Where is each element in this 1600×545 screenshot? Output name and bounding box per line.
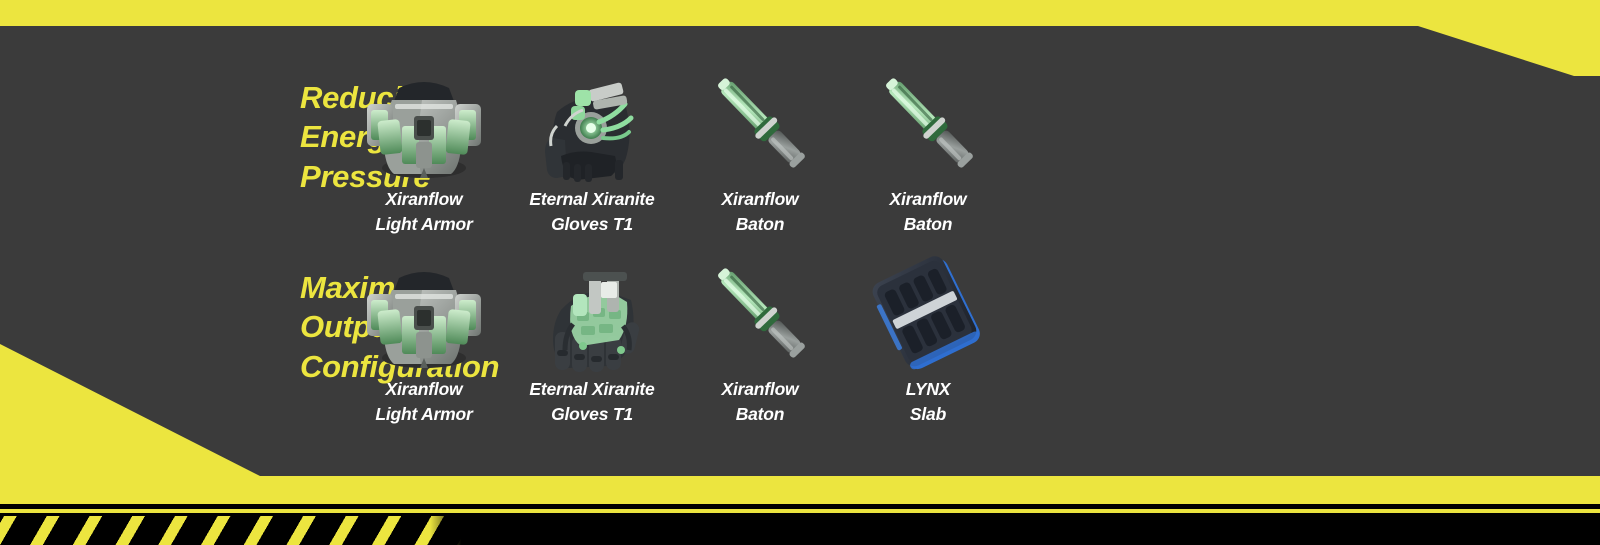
loadout-banner: Reducing Energy Pressure (0, 0, 1600, 545)
top-accent-band (0, 0, 1600, 26)
loadout-item[interactable]: Xiranflow Baton (676, 254, 844, 444)
gloves-alt-icon (527, 254, 657, 372)
hazard-footer (0, 476, 1600, 545)
footer-accent-band (0, 476, 1600, 504)
item-label: Xiranflow Baton (890, 187, 967, 237)
row-items: Xiranflow Light Armor (340, 254, 1600, 444)
loadout-item[interactable]: LYNX Slab (844, 254, 1012, 444)
armor-vest-icon (359, 254, 489, 372)
item-label: LYNX Slab (906, 377, 951, 427)
baton-icon (863, 64, 993, 182)
loadout-item[interactable]: Xiranflow Baton (844, 64, 1012, 254)
gloves-icon (527, 64, 657, 182)
loadout-item[interactable]: Eternal Xiranite Gloves T1 (508, 64, 676, 254)
loadout-item[interactable]: Xiranflow Light Armor (340, 64, 508, 254)
item-label: Xiranflow Light Armor (375, 187, 472, 237)
loadout-row: Reducing Energy Pressure (0, 64, 1600, 254)
loadout-rows: Reducing Energy Pressure (0, 26, 1600, 476)
baton-icon (695, 254, 825, 372)
item-label: Xiranflow Baton (722, 377, 799, 427)
loadout-row: Maximum Output Configuration (0, 254, 1600, 444)
slab-icon (863, 254, 993, 372)
loadout-item[interactable]: Xiranflow Light Armor (340, 254, 508, 444)
row-items: Xiranflow Light Armor (340, 64, 1600, 254)
item-label: Eternal Xiranite Gloves T1 (529, 187, 654, 237)
row-title: Maximum Output Configuration (0, 254, 340, 444)
item-label: Xiranflow Light Armor (375, 377, 472, 427)
item-label: Xiranflow Baton (722, 187, 799, 237)
loadout-item[interactable]: Eternal Xiranite Gloves T1 (508, 254, 676, 444)
loadout-item[interactable]: Xiranflow Baton (676, 64, 844, 254)
armor-vest-icon (359, 64, 489, 182)
baton-icon (695, 64, 825, 182)
item-label: Eternal Xiranite Gloves T1 (529, 377, 654, 427)
hazard-stripes (0, 516, 470, 545)
row-title: Reducing Energy Pressure (0, 64, 340, 254)
